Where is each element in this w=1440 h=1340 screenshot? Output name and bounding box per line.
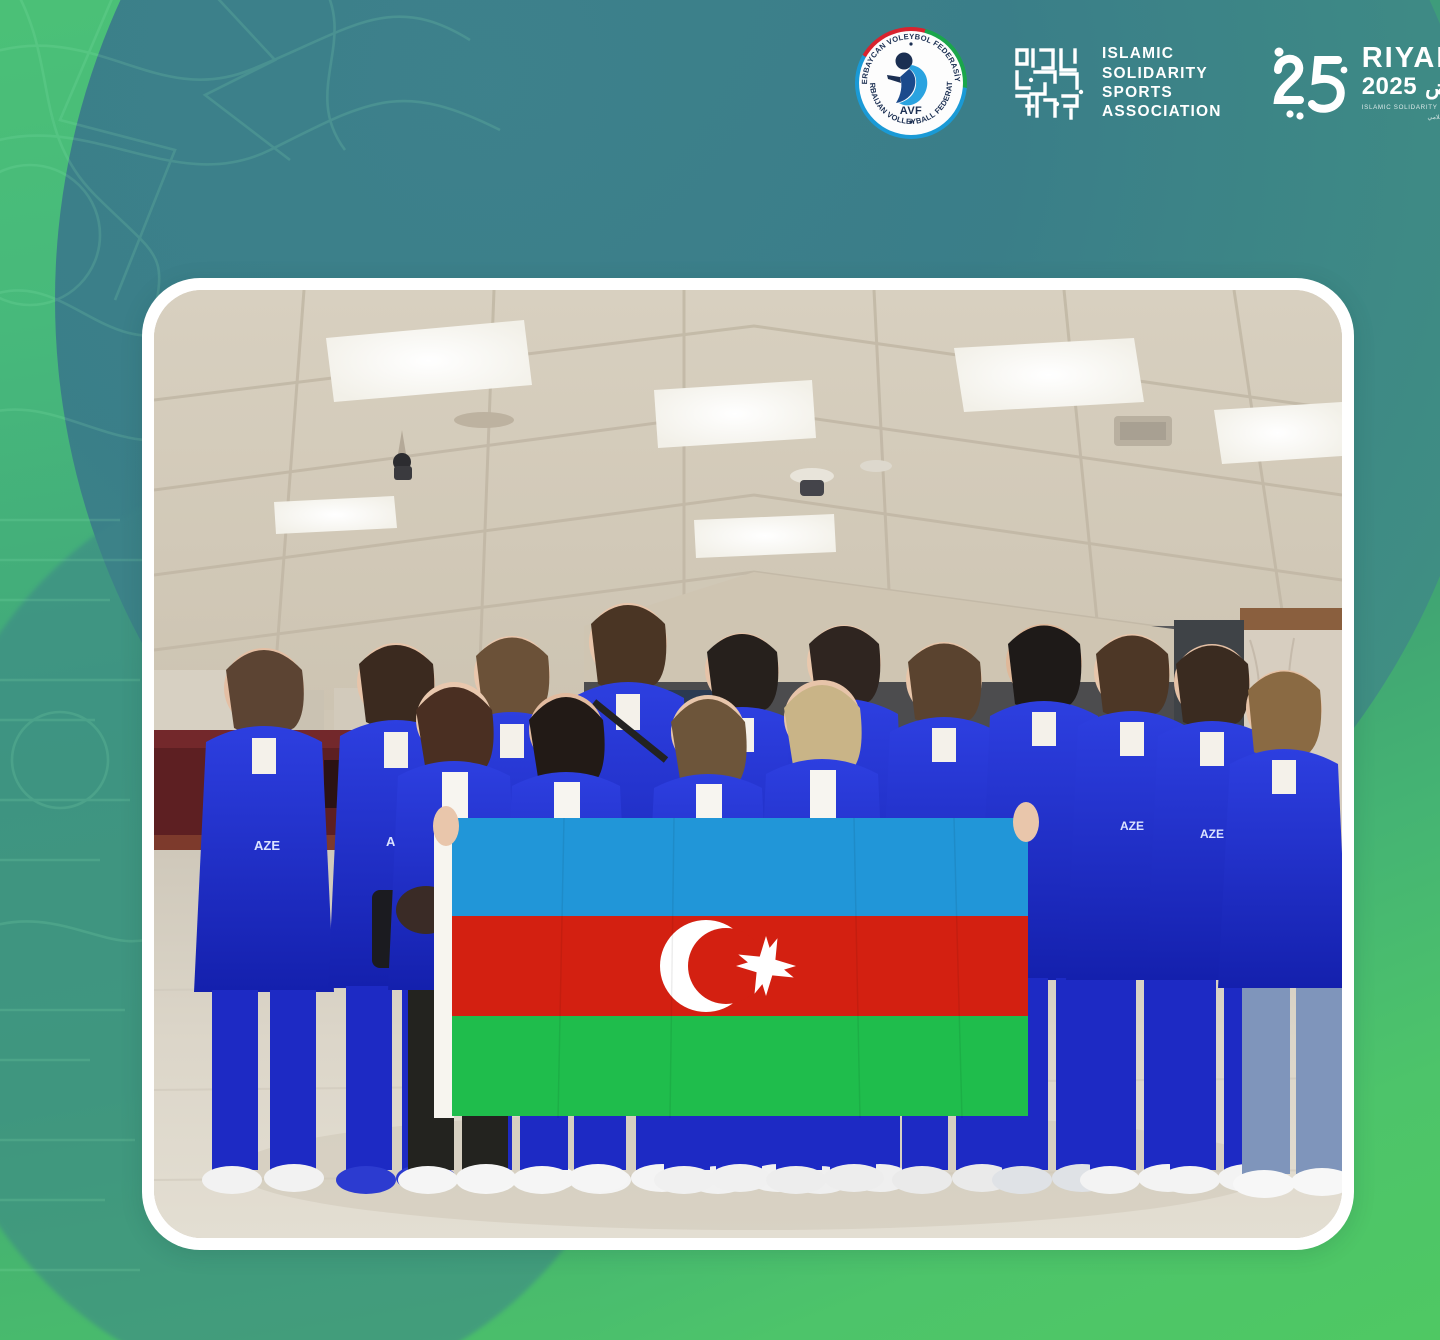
avf-abbreviation: AVF	[855, 105, 967, 117]
issa-line-1: ISLAMIC	[1102, 44, 1222, 63]
riyadh-wordmark: RIYADH 2025 الرياض ISLAMIC SOLIDARITY GA…	[1362, 44, 1440, 122]
riyadh-year: 2025	[1362, 75, 1417, 99]
issa-wordmark: ISLAMIC SOLIDARITY SPORTS ASSOCIATION	[1102, 44, 1222, 122]
team-photo: 50 51 53 56 57	[154, 290, 1342, 1238]
logo-bar: AZERBAYCAN VOLEYBOL FEDERASİYASI AZERBAI…	[855, 24, 1420, 142]
riyadh-subtitle: ISLAMIC SOLIDARITY GAMES دورة التضامن ال…	[1362, 103, 1440, 122]
riyadh-city-arabic: الرياض	[1425, 77, 1440, 98]
issa-arabic-calligraphy-icon	[1011, 44, 1089, 122]
riyadh-2025-logo: RIYADH 2025 الرياض ISLAMIC SOLIDARITY GA…	[1266, 40, 1440, 126]
riyadh-city-name: RIYADH	[1362, 44, 1440, 73]
issa-line-3: SPORTS	[1102, 83, 1222, 102]
issa-line-4: ASSOCIATION	[1102, 102, 1222, 121]
svg-text:AZE: AZE	[254, 838, 280, 853]
riyadh-subtitle-ar: دورة التضامن الإسلامي	[1362, 113, 1440, 122]
riyadh-25-numeral-icon	[1266, 40, 1352, 126]
riyadh-subtitle-en: ISLAMIC SOLIDARITY GAMES	[1362, 103, 1440, 112]
avf-volleyball-player-icon	[885, 51, 937, 113]
avf-federation-logo: AZERBAYCAN VOLEYBOL FEDERASİYASI AZERBAI…	[855, 27, 967, 139]
svg-text:AZE: AZE	[1200, 827, 1224, 841]
azerbaijan-flag	[434, 818, 1028, 1118]
photo-card: 50 51 53 56 57	[142, 278, 1354, 1250]
issa-logo: ISLAMIC SOLIDARITY SPORTS ASSOCIATION	[1011, 44, 1222, 122]
svg-text:AZE: AZE	[1120, 819, 1144, 833]
issa-line-2: SOLIDARITY	[1102, 64, 1222, 83]
